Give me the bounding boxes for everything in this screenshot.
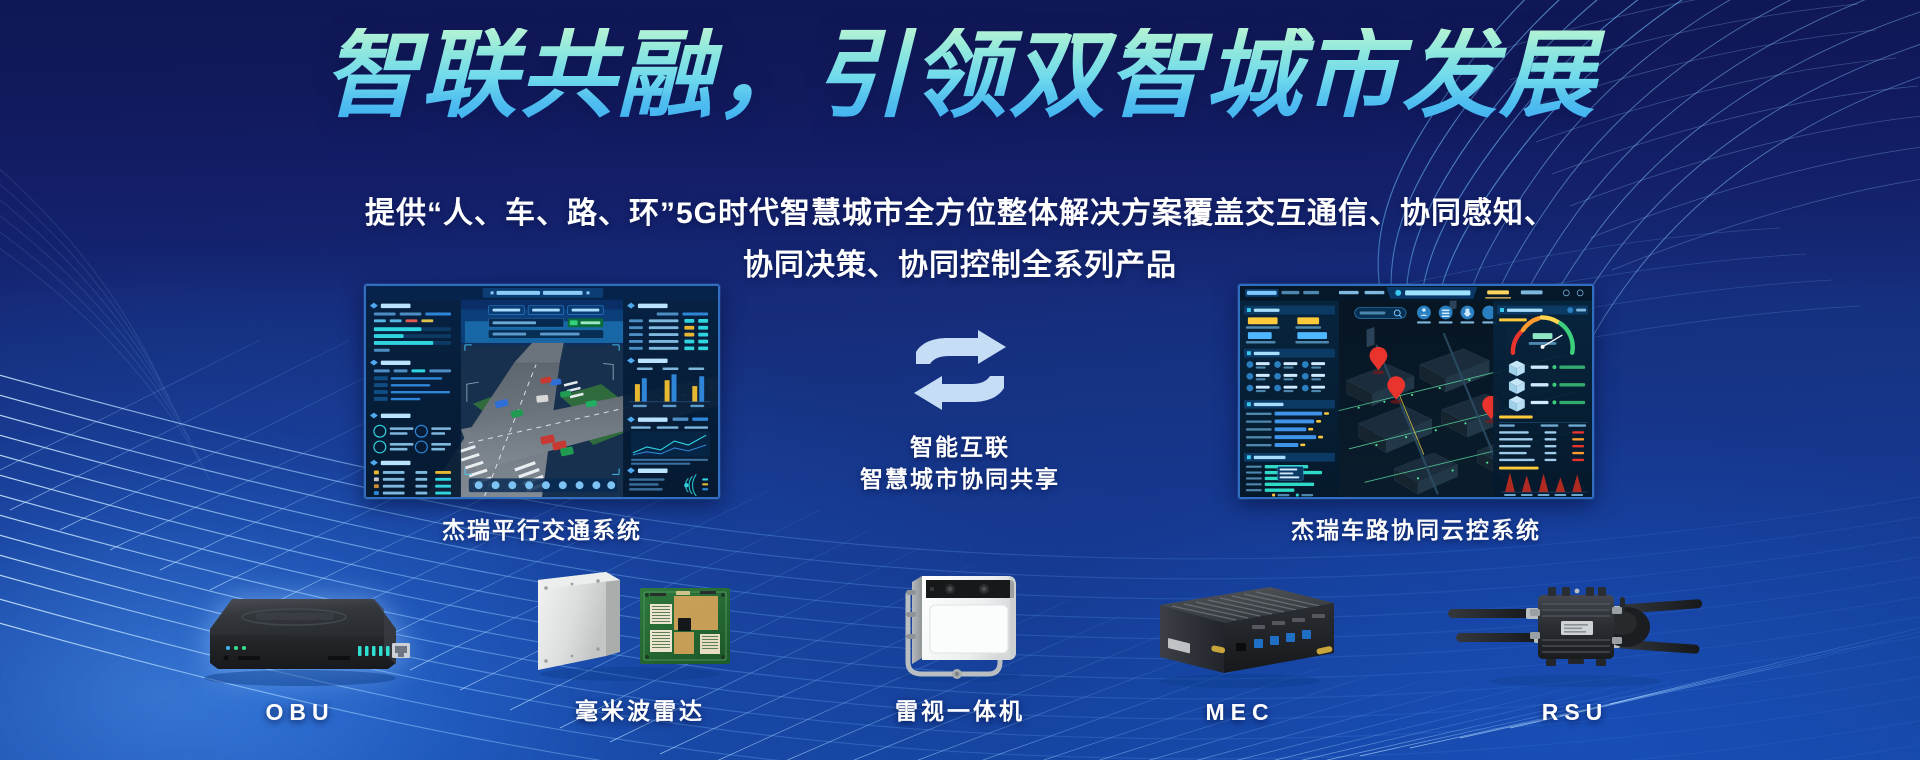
cloud-control-screenshot[interactable]: [1238, 284, 1594, 499]
radar-vision-camera-icon: [860, 558, 1060, 686]
mec-server-icon: [1120, 573, 1360, 693]
parallel-traffic-screenshot[interactable]: [364, 284, 720, 499]
exchange-block: 智能互联 智慧城市协同共享: [845, 330, 1075, 495]
banner-subtitle-line1: 提供“人、车、路、环”5G时代智慧城市全方位整体解决方案覆盖交互通信、协同感知、: [0, 188, 1920, 232]
panel-parallel-traffic[interactable]: 杰瑞平行交通系统: [364, 284, 720, 545]
banner-stage: 智联共融，引领双智城市发展 提供“人、车、路、环”5G时代智慧城市全方位整体解决…: [0, 0, 1920, 760]
product-label-rsu: RSU: [1430, 699, 1720, 726]
product-label-obu: OBU: [160, 699, 440, 726]
product-label-radar-vision-camera: 雷视一体机: [860, 692, 1060, 726]
product-label-mec: MEC: [1120, 699, 1360, 726]
product-row: OBU: [0, 526, 1920, 726]
product-obu[interactable]: OBU: [160, 573, 440, 726]
obu-device-icon: [160, 573, 440, 693]
product-mmwave-radar[interactable]: 毫米波雷达: [520, 566, 760, 726]
banner-headline: 智联共融，引领双智城市发展: [0, 28, 1920, 124]
two-way-arrows-icon: [900, 330, 1020, 422]
product-label-mmwave-radar: 毫米波雷达: [520, 692, 760, 726]
product-radar-vision-camera[interactable]: 雷视一体机: [860, 558, 1060, 726]
exchange-line2: 智慧城市协同共享: [845, 464, 1075, 496]
rsu-antenna-unit-icon: [1430, 573, 1720, 693]
banner-subtitle-line2: 协同决策、协同控制全系列产品: [0, 240, 1920, 284]
mmwave-radar-icon: [520, 566, 760, 686]
panel-cloud-control[interactable]: 杰瑞车路协同云控系统: [1238, 284, 1594, 545]
product-rsu[interactable]: RSU: [1430, 573, 1720, 726]
product-mec[interactable]: MEC: [1120, 573, 1360, 726]
exchange-line1: 智能互联: [845, 432, 1075, 464]
